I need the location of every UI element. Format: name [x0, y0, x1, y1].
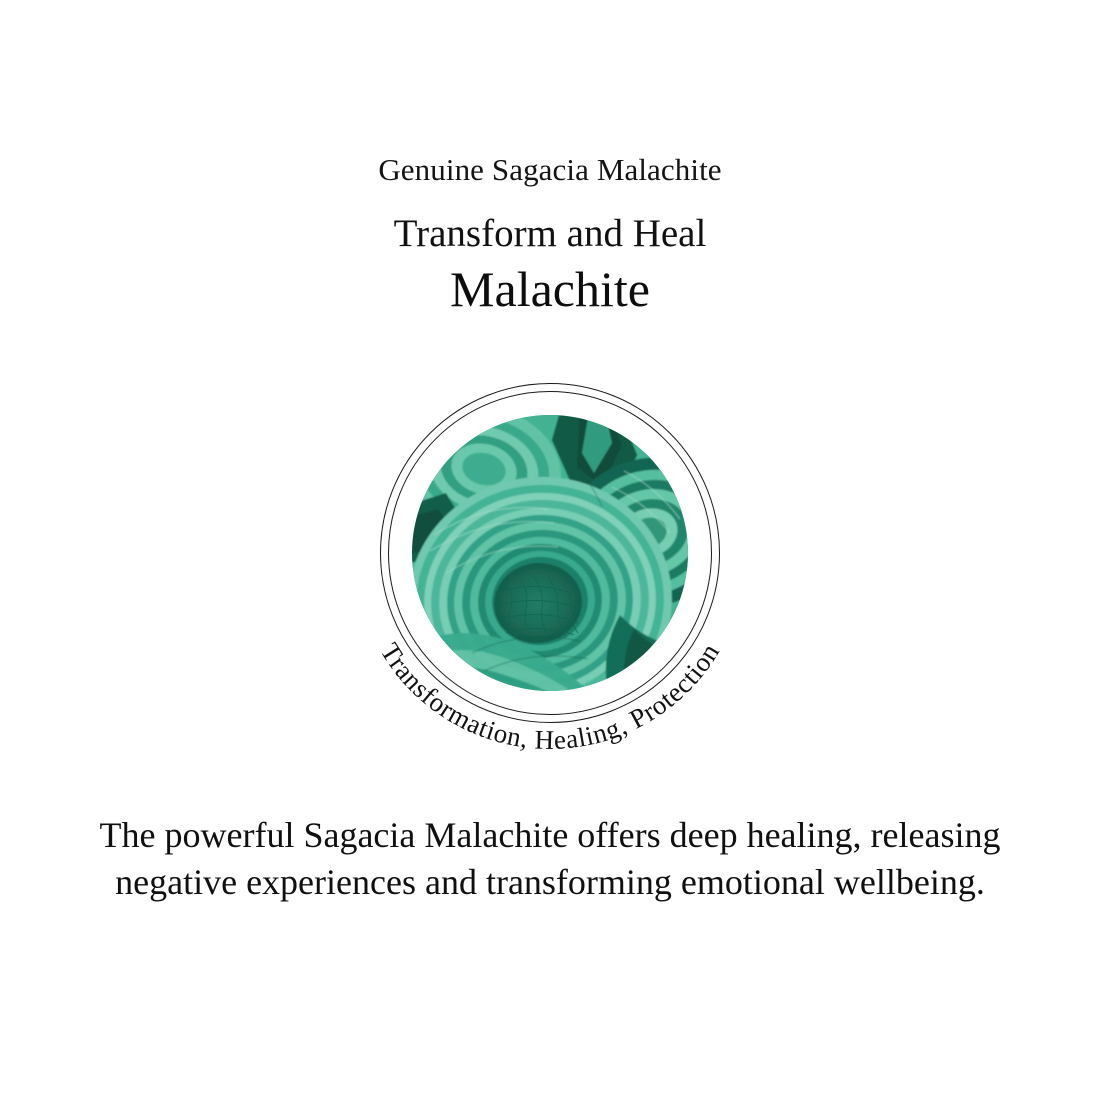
heading-block: Genuine Sagacia Malachite Transform and …: [0, 150, 1100, 318]
product-card: Genuine Sagacia Malachite Transform and …: [0, 0, 1100, 1100]
emblem-curved-caption-text: Transformation, Healing, Protection: [375, 638, 726, 756]
tagline: Transform and Heal: [0, 207, 1100, 261]
brand-eyebrow: Genuine Sagacia Malachite: [0, 150, 1100, 190]
product-description: The powerful Sagacia Malachite offers de…: [70, 812, 1030, 906]
emblem-curved-caption: Transformation, Healing, Protection: [300, 303, 800, 803]
